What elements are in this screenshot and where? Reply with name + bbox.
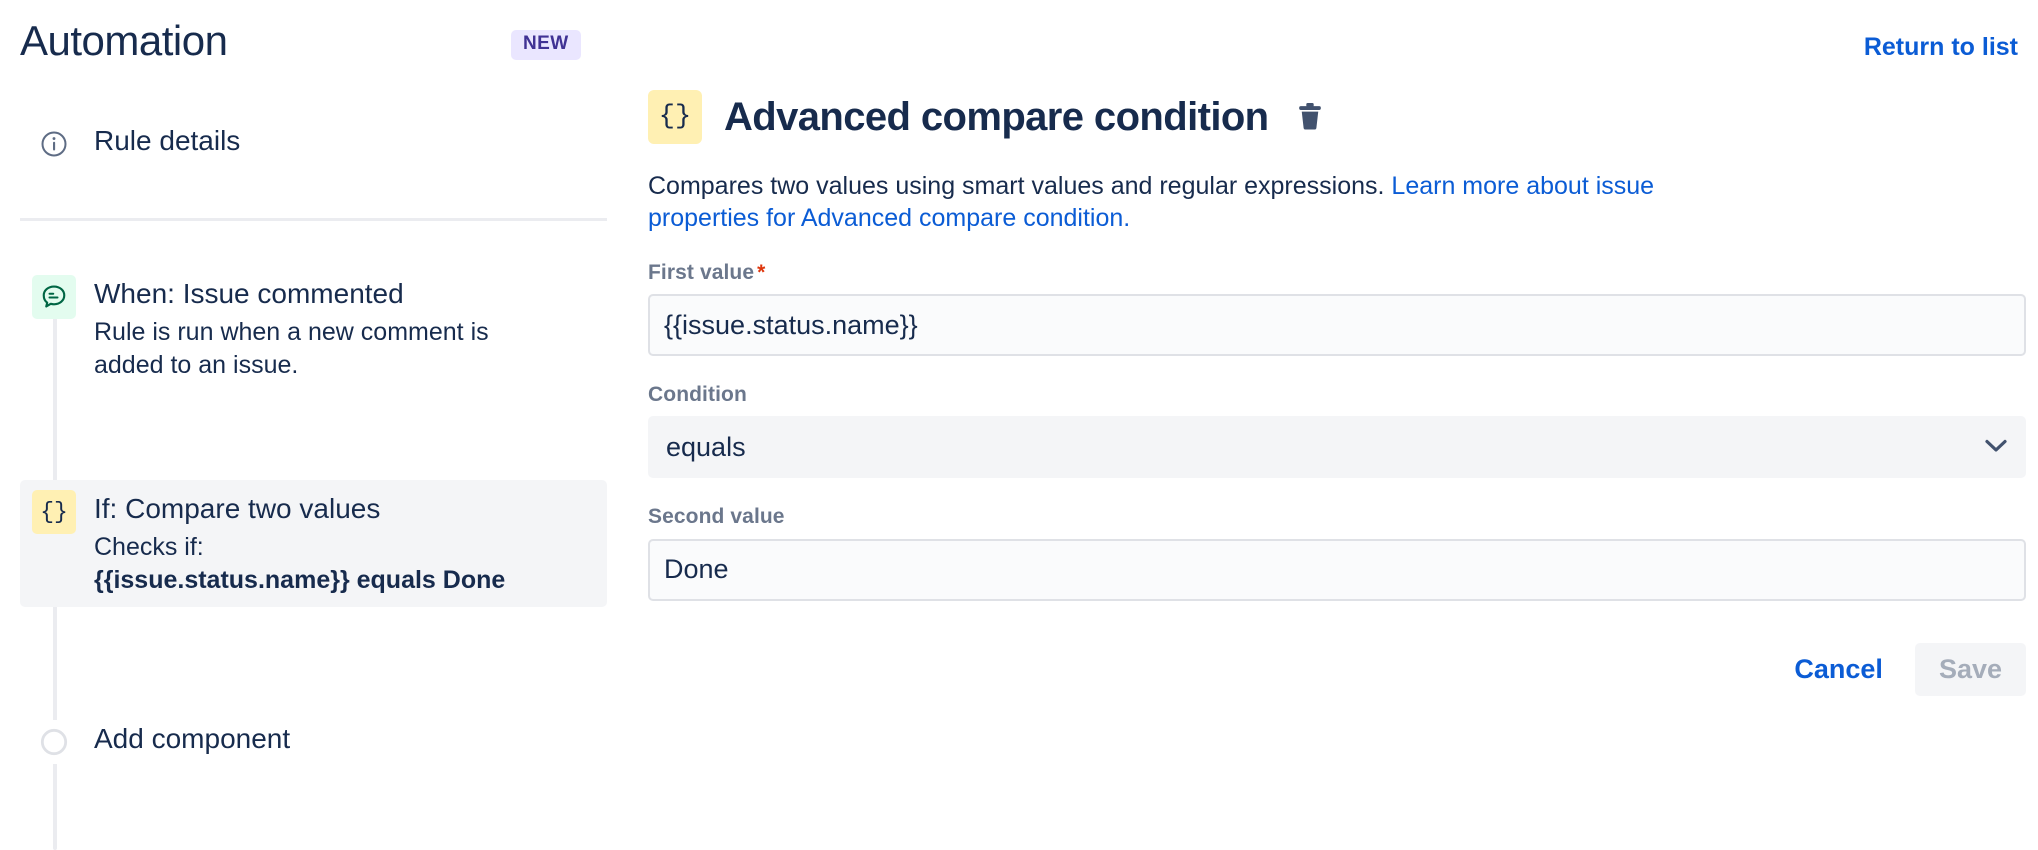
detail-header: {} Advanced compare condition xyxy=(648,90,2038,144)
rail-item-desc-lead: Checks if: xyxy=(94,533,204,561)
curly-braces-icon: {} xyxy=(32,490,76,534)
sidebar-item-add-component[interactable]: Add component xyxy=(20,710,607,774)
cancel-button[interactable]: Cancel xyxy=(1780,644,1897,695)
rail-item-desc: Rule is run when a new comment is added … xyxy=(94,316,514,382)
info-circle-icon xyxy=(32,122,76,166)
return-to-list-link[interactable]: Return to list xyxy=(1864,33,2018,62)
condition-select[interactable]: equals xyxy=(648,416,2026,478)
detail-description-text: Compares two values using smart values a… xyxy=(648,172,1391,200)
field-label-first-value: First value* xyxy=(648,260,2038,285)
rail-item-desc-expression: {{issue.status.name}} equals Done xyxy=(94,566,505,594)
new-badge: NEW xyxy=(511,30,581,60)
field-label-second-value: Second value xyxy=(648,504,2038,529)
sidebar-item-rule-details[interactable]: Rule details xyxy=(20,112,607,176)
sidebar-item-if-compare-two-values[interactable]: {} If: Compare two values Checks if: {{i… xyxy=(20,480,607,607)
field-label-text: First value xyxy=(648,261,754,284)
page-title: Automation xyxy=(20,18,227,64)
empty-circle-icon xyxy=(32,720,76,764)
rule-details-label: Rule details xyxy=(94,123,240,159)
field-label-condition: Condition xyxy=(648,382,2038,407)
curly-braces-icon: {} xyxy=(648,90,702,144)
add-component-label: Add component xyxy=(94,721,290,757)
field-first-value: First value* xyxy=(648,260,2038,356)
required-asterisk: * xyxy=(757,261,765,284)
detail-title: Advanced compare condition xyxy=(724,95,1269,140)
sidebar-item-when-issue-commented[interactable]: When: Issue commented Rule is run when a… xyxy=(20,265,607,392)
rail-divider xyxy=(20,218,607,221)
form-actions: Cancel Save xyxy=(648,643,2026,696)
field-second-value: Second value xyxy=(648,504,2038,600)
detail-description: Compares two values using smart values a… xyxy=(648,170,1708,234)
rule-component-rail: Rule details When: Issue commented Rule … xyxy=(0,90,630,850)
rail-item-title: When: Issue commented xyxy=(94,276,514,312)
first-value-input[interactable] xyxy=(648,294,2026,356)
page-header: Automation NEW Return to list xyxy=(0,0,2038,80)
component-detail-panel: {} Advanced compare condition Compares t… xyxy=(648,90,2038,850)
rail-item-title: If: Compare two values xyxy=(94,491,505,527)
save-button[interactable]: Save xyxy=(1915,643,2026,696)
second-value-input[interactable] xyxy=(648,539,2026,601)
trash-icon[interactable] xyxy=(1291,98,1329,136)
comment-bubble-icon xyxy=(32,275,76,319)
field-condition: Condition equals xyxy=(648,382,2038,478)
